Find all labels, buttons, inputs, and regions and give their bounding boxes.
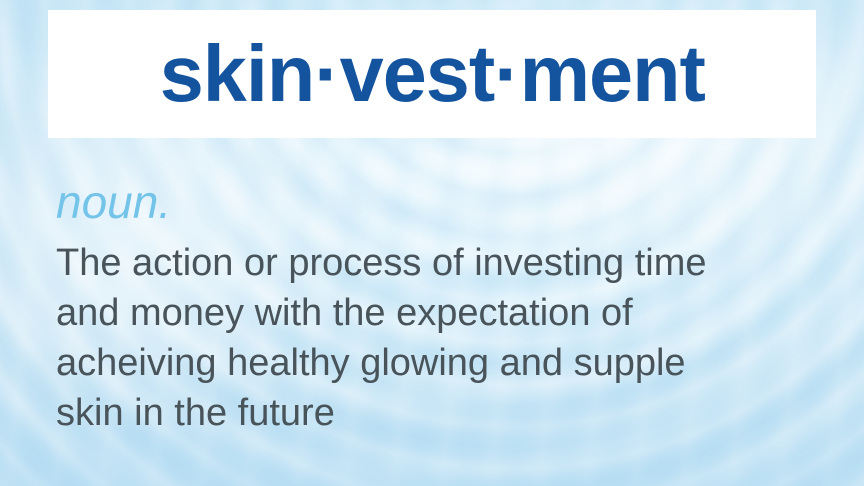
poster-canvas: skin·vest·ment noun. The action or proce… bbox=[0, 0, 864, 486]
title-banner: skin·vest·ment bbox=[48, 10, 816, 138]
definition-line: and money with the expectation of bbox=[56, 288, 816, 338]
definition-text: The action or process of investing time … bbox=[56, 238, 816, 438]
part-of-speech-label: noun. bbox=[56, 178, 836, 226]
definition-block: noun. The action or process of investing… bbox=[56, 178, 836, 438]
definition-line: skin in the future bbox=[56, 388, 816, 438]
page-title: skin·vest·ment bbox=[159, 34, 704, 114]
definition-line: The action or process of investing time bbox=[56, 238, 816, 288]
definition-line: acheiving healthy glowing and supple bbox=[56, 338, 816, 388]
